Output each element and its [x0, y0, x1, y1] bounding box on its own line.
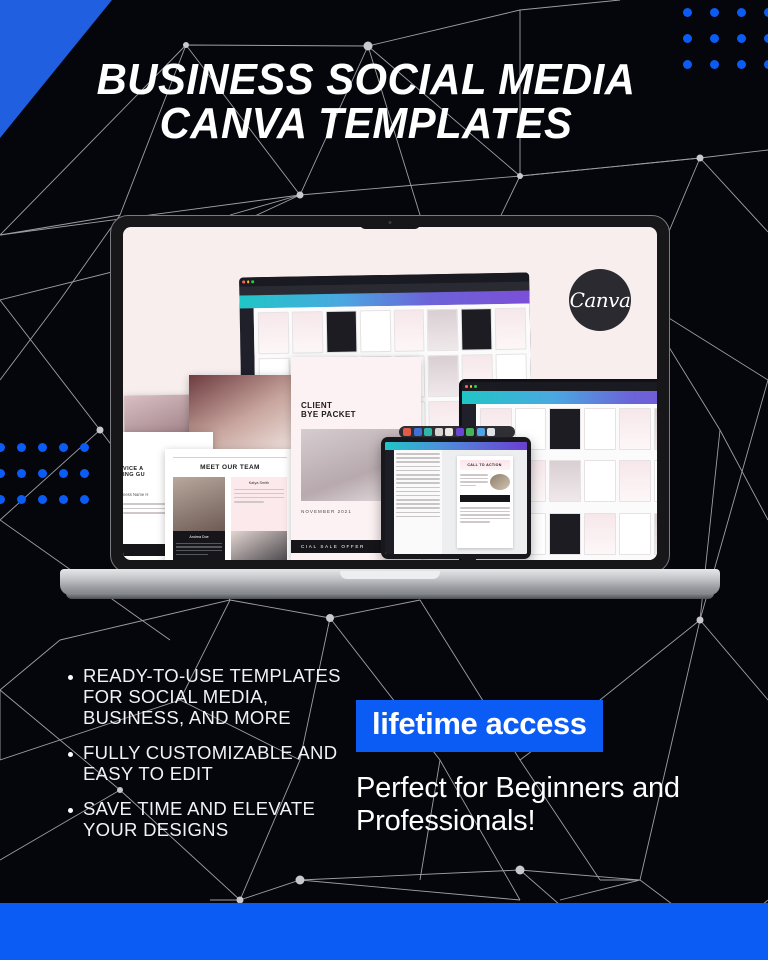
- template-card: [619, 460, 651, 502]
- list-item: [396, 470, 440, 472]
- list-item: FULLY CUSTOMIZABLE AND EASY TO EDIT: [62, 742, 362, 784]
- dock-app-icon: [466, 428, 474, 436]
- template-card: [325, 311, 357, 354]
- cta-image: [490, 474, 510, 490]
- template-card: [393, 309, 425, 352]
- browser-chrome: [462, 382, 657, 391]
- decor-dot: [0, 443, 5, 452]
- decor-dot: [38, 495, 47, 504]
- decor-dot: [0, 495, 5, 504]
- bottom-accent-bar: [0, 903, 768, 960]
- tablet-app-body: CALL TO ACTION: [385, 450, 527, 554]
- decor-dot: [737, 34, 746, 43]
- device-mockup: Canva: [60, 215, 720, 615]
- decor-dot: [764, 34, 768, 43]
- decor-dot: [38, 469, 47, 478]
- badge-label: lifetime access: [372, 706, 587, 741]
- list-item: [396, 478, 440, 480]
- list-item: READY-TO-USE TEMPLATES FOR SOCIAL MEDIA,…: [62, 665, 362, 728]
- list-item: [396, 491, 440, 493]
- tablet-screen: CALL TO ACTION: [385, 442, 527, 554]
- decor-dot: [710, 34, 719, 43]
- title-line-2: CANVA TEMPLATES: [18, 102, 713, 146]
- laptop-screen: Canva: [123, 227, 657, 560]
- template-card: [549, 460, 581, 502]
- laptop-base: [60, 569, 720, 595]
- team-member-photo: [173, 477, 225, 531]
- maximize-icon: [251, 281, 254, 284]
- dock-app-icon: [414, 428, 422, 436]
- list-item: [396, 482, 440, 484]
- dock-app-icon: [403, 428, 411, 436]
- list-item: [396, 495, 440, 497]
- list-item: [396, 516, 440, 518]
- bullet-dot-icon: [68, 675, 73, 680]
- bullet-text: SAVE TIME AND ELEVATE YOUR DESIGNS: [83, 798, 362, 840]
- template-card: [654, 408, 657, 450]
- decor-dot: [17, 495, 26, 504]
- decor-dot: [17, 469, 26, 478]
- list-item: [396, 453, 440, 455]
- decor-dot: [683, 8, 692, 17]
- list-item: [396, 512, 440, 514]
- decor-dot: [710, 8, 719, 17]
- template-card: [584, 513, 616, 555]
- template-card: [584, 460, 616, 502]
- template-card: [584, 408, 616, 450]
- laptop-base-foot: [66, 593, 714, 599]
- team-card-title: MEET OUR TEAM: [173, 464, 287, 471]
- tablet-design-page: CALL TO ACTION: [457, 456, 513, 548]
- client-line-1: CLIENT: [301, 401, 411, 410]
- list-item: [396, 487, 440, 489]
- template-card: [619, 513, 651, 555]
- tablet-document-list: [394, 450, 442, 554]
- dock-app-icon: [435, 428, 443, 436]
- tablet-app-header: [385, 442, 527, 450]
- bullet-dot-icon: [68, 752, 73, 757]
- list-item: [396, 507, 440, 509]
- template-card: [427, 309, 459, 352]
- canva-app-header: [462, 391, 657, 404]
- template-card: [619, 408, 651, 450]
- template-card: [654, 513, 657, 555]
- lifetime-access-badge: lifetime access: [356, 700, 603, 752]
- list-item: SAVE TIME AND ELEVATE YOUR DESIGNS: [62, 798, 362, 840]
- tablet-device: CALL TO ACTION: [381, 437, 531, 559]
- bullet-text: READY-TO-USE TEMPLATES FOR SOCIAL MEDIA,…: [83, 665, 362, 728]
- template-card: [461, 308, 493, 351]
- laptop-notch-camera: [360, 216, 420, 229]
- list-item: [396, 474, 440, 476]
- canva-logo-text: Canva: [570, 288, 631, 312]
- minimize-icon: [470, 385, 473, 388]
- decor-dot: [0, 469, 5, 478]
- decor-dot: [683, 34, 692, 43]
- collage-team-card: MEET OUR TEAM Andrea Doe: [165, 449, 295, 560]
- list-item: [396, 499, 440, 501]
- laptop-lid: Canva: [110, 215, 670, 573]
- client-line-2: BYE PACKET: [301, 410, 411, 419]
- template-card: [549, 513, 581, 555]
- decor-dot: [737, 8, 746, 17]
- maximize-icon: [474, 385, 477, 388]
- template-card: [292, 311, 324, 354]
- team-member-photo: [231, 531, 287, 560]
- template-card: [258, 312, 290, 355]
- decor-dot: [764, 8, 768, 17]
- dock-app-icon: [424, 428, 432, 436]
- list-item: [396, 466, 440, 468]
- bullet-dot-icon: [68, 808, 73, 813]
- template-card: [549, 408, 581, 450]
- macos-dock: [399, 426, 515, 438]
- list-item: [396, 457, 440, 459]
- template-card: [495, 308, 527, 351]
- template-card: [359, 310, 391, 353]
- close-icon: [465, 385, 468, 388]
- tablet-canvas: CALL TO ACTION: [442, 450, 527, 554]
- dock-app-icon: [477, 428, 485, 436]
- template-card: [428, 355, 460, 398]
- feature-bullet-list: READY-TO-USE TEMPLATES FOR SOCIAL MEDIA,…: [62, 665, 362, 854]
- decor-dot: [17, 443, 26, 452]
- canva-logo: Canva: [569, 269, 631, 331]
- list-item: [396, 503, 440, 505]
- decor-dot: [38, 443, 47, 452]
- dock-app-icon: [487, 428, 495, 436]
- page-title: BUSINESS SOCIAL MEDIA CANVA TEMPLATES: [0, 58, 768, 146]
- tablet-sidebar-rail: [385, 450, 394, 554]
- close-icon: [242, 281, 245, 284]
- dock-app-icon: [445, 428, 453, 436]
- bullet-text: FULLY CUSTOMIZABLE AND EASY TO EDIT: [83, 742, 362, 784]
- minimize-icon: [247, 281, 250, 284]
- tagline-text: Perfect for Beginners and Professionals!: [356, 772, 686, 838]
- dock-app-icon: [456, 428, 464, 436]
- poster-canvas: BUSINESS SOCIAL MEDIA CANVA TEMPLATES Ca…: [0, 0, 768, 960]
- template-card: [654, 460, 657, 502]
- cta-heading: CALL TO ACTION: [460, 460, 510, 470]
- list-item: [396, 461, 440, 463]
- title-line-1: BUSINESS SOCIAL MEDIA: [18, 58, 713, 102]
